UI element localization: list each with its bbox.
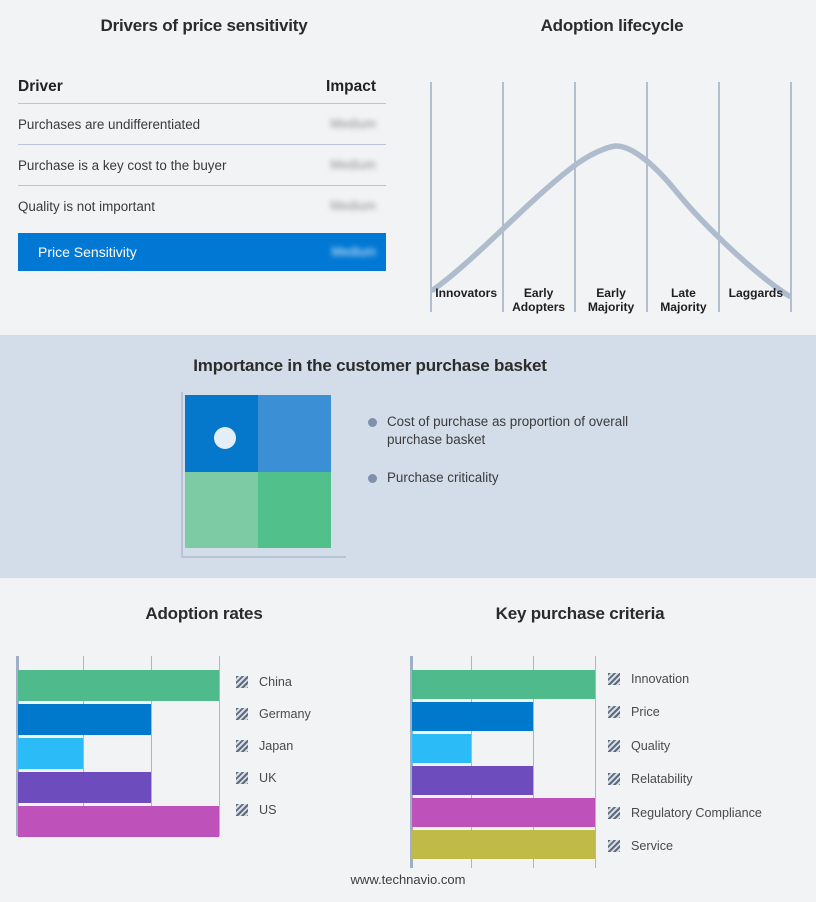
legend-label: Service [631, 839, 673, 853]
legend-label: Price [631, 705, 660, 719]
legend-item: China [236, 666, 311, 698]
legend-label: US [259, 803, 277, 817]
adoption-rates-title: Adoption rates [0, 604, 408, 624]
quadrant-x-axis [181, 556, 346, 558]
footer-url: www.technavio.com [0, 872, 816, 887]
legend-item: Innovation [608, 662, 762, 696]
impact-value: Medium [330, 117, 376, 131]
legend-item: Price [608, 696, 762, 730]
bullet-dot-icon [368, 418, 377, 427]
drivers-panel: Drivers of price sensitivity [0, 16, 408, 36]
bar-uk [18, 772, 151, 803]
table-header-row: Driver Impact [18, 78, 386, 103]
lifecycle-label-late-majority: Late Majority [647, 286, 719, 314]
hatch-swatch-icon [236, 772, 248, 784]
legend-item: Quality [608, 729, 762, 763]
legend-label: Relatability [631, 772, 693, 786]
driver-label: Quality is not important [18, 199, 290, 214]
lifecycle-label-innovators: Innovators [430, 286, 502, 314]
legend-item: Service [608, 830, 762, 864]
drivers-panel-title: Drivers of price sensitivity [0, 16, 408, 36]
impact-value: Medium [330, 199, 376, 213]
driver-label: Purchases are undifferentiated [18, 117, 290, 132]
legend-label: Innovation [631, 672, 689, 686]
legend-label: Purchase criticality [387, 469, 499, 487]
lifecycle-plot [430, 82, 792, 312]
hatch-swatch-icon [236, 804, 248, 816]
highlight-impact-cell: Medium [290, 243, 386, 261]
criteria-title: Key purchase criteria [400, 604, 760, 624]
bullet-dot-icon [368, 474, 377, 483]
quadrant-cell-top-right [258, 395, 331, 472]
adoption-rates-legend: China Germany Japan UK US [236, 666, 311, 826]
drivers-table: Driver Impact Purchases are undifferenti… [18, 78, 386, 271]
table-row: Purchases are undifferentiated Medium [18, 104, 386, 144]
price-sensitivity-highlight-row: Price Sensitivity Medium [18, 233, 386, 271]
bar-service [412, 830, 595, 859]
lifecycle-panel-title: Adoption lifecycle [408, 16, 816, 36]
criteria-plot [410, 656, 602, 868]
highlight-label: Price Sensitivity [38, 244, 290, 260]
legend-item: Japan [236, 730, 311, 762]
bar-relatability [412, 766, 533, 795]
basket-panel-title: Importance in the customer purchase bask… [0, 356, 740, 376]
bar-japan [18, 738, 83, 769]
impact-value-cell: Medium [290, 156, 386, 174]
adoption-rates-panel: Adoption rates [0, 604, 408, 624]
bottom-band: Adoption rates [0, 578, 816, 902]
quadrant-cell-bottom-left [185, 472, 258, 549]
top-band: Drivers of price sensitivity Driver Impa… [0, 0, 816, 335]
bar-us [18, 806, 219, 837]
hatch-swatch-icon [608, 807, 620, 819]
impact-value: Medium [330, 158, 376, 172]
bar-regulatory-compliance [412, 798, 595, 827]
lifecycle-label-early-majority: Early Majority [575, 286, 647, 314]
legend-label: Regulatory Compliance [631, 806, 762, 820]
adoption-rates-plot [16, 656, 222, 836]
legend-label: Quality [631, 739, 670, 753]
legend-item: Relatability [608, 763, 762, 797]
quadrant-matrix [160, 392, 350, 564]
quadrant-position-marker [214, 427, 236, 449]
legend-label: Germany [259, 707, 311, 721]
hatch-swatch-icon [608, 773, 620, 785]
infographic-page: Drivers of price sensitivity Driver Impa… [0, 0, 816, 902]
driver-label: Purchase is a key cost to the buyer [18, 158, 290, 173]
hatch-swatch-icon [608, 840, 620, 852]
legend-label: UK [259, 771, 277, 785]
legend-item: Regulatory Compliance [608, 796, 762, 830]
quadrant-cell-bottom-right [258, 472, 331, 549]
purchase-basket-band: Importance in the customer purchase bask… [0, 335, 816, 578]
quadrant-y-axis [181, 392, 183, 557]
criteria-legend: Innovation Price Quality Relatability Re… [608, 662, 762, 863]
legend-item: Germany [236, 698, 311, 730]
highlight-impact-value: Medium [332, 245, 376, 259]
lifecycle-bell-curve [433, 146, 789, 296]
key-purchase-criteria-panel: Key purchase criteria [400, 604, 816, 624]
legend-label: Cost of purchase as proportion of overal… [387, 413, 642, 449]
legend-item: Purchase criticality [368, 469, 668, 487]
bar-price [412, 702, 533, 731]
table-row: Purchase is a key cost to the buyer Medi… [18, 145, 386, 185]
hatch-swatch-icon [608, 740, 620, 752]
basket-legend: Cost of purchase as proportion of overal… [368, 413, 668, 507]
adoption-lifecycle-panel: Adoption lifecycle Innovators Ea [408, 16, 816, 326]
column-header-driver: Driver [18, 78, 290, 96]
legend-item: UK [236, 762, 311, 794]
adoption-rates-bars [18, 656, 224, 837]
impact-value-cell: Medium [290, 115, 386, 133]
criteria-bars [412, 656, 604, 859]
quadrant-grid [185, 395, 331, 548]
legend-label: Japan [259, 739, 293, 753]
hatch-swatch-icon [236, 708, 248, 720]
impact-value-cell: Medium [290, 197, 386, 215]
lifecycle-curve-svg [430, 82, 792, 312]
bar-germany [18, 704, 151, 735]
hatch-swatch-icon [236, 676, 248, 688]
legend-label: China [259, 675, 292, 689]
legend-item: Cost of purchase as proportion of overal… [368, 413, 668, 449]
hatch-swatch-icon [608, 706, 620, 718]
column-header-impact: Impact [290, 78, 386, 96]
bar-quality [412, 734, 471, 763]
table-row: Quality is not important Medium [18, 186, 386, 226]
legend-item: US [236, 794, 311, 826]
bar-innovation [412, 670, 595, 699]
lifecycle-gridlines [431, 82, 791, 312]
hatch-swatch-icon [608, 673, 620, 685]
lifecycle-label-early-adopters: Early Adopters [502, 286, 574, 314]
lifecycle-segment-labels: Innovators Early Adopters Early Majority… [430, 286, 792, 314]
hatch-swatch-icon [236, 740, 248, 752]
lifecycle-label-laggards: Laggards [720, 286, 792, 314]
bar-china [18, 670, 219, 701]
